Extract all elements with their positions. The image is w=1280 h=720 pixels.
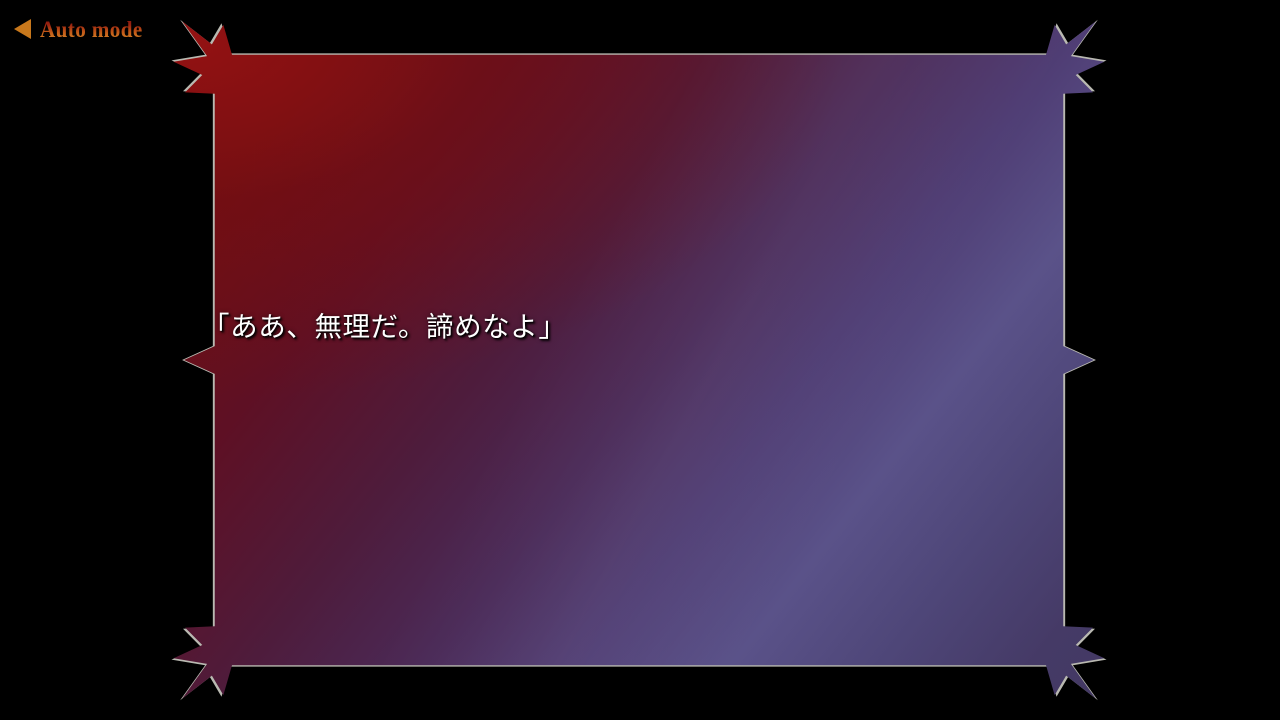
auto-mode-label: Auto mode (40, 18, 143, 41)
game-screen[interactable]: Auto mode 「ああ、無理だ。諦めなよ」 傍らの白い少女が肩をすくめて、子… (0, 0, 1280, 720)
auto-mode-indicator[interactable]: Auto mode (14, 14, 152, 44)
dialogue-text: 「ああ、無理だ。諦めなよ」 傍らの白い少女が肩をすくめて、子供になった玲愛を見下… (202, 58, 1090, 720)
message-window[interactable]: 「ああ、無理だ。諦めなよ」 傍らの白い少女が肩をすくめて、子供になった玲愛を見下… (158, 10, 1120, 710)
dialogue-line: 「ああ、無理だ。諦めなよ」 (202, 307, 1090, 349)
paragraph-spacer (202, 515, 1090, 557)
dialogue-paragraph: 「ああ、無理だ。諦めなよ」 (202, 224, 1090, 432)
triangle-left-icon (14, 19, 31, 39)
